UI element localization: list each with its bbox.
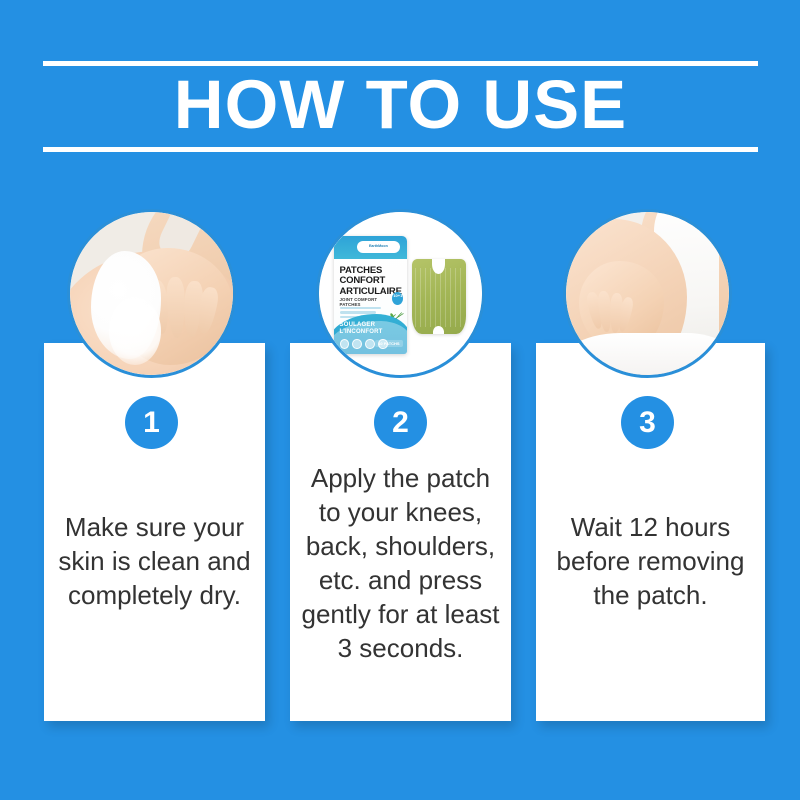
step-2-text: Apply the patch to your knees, back, sho… <box>300 461 501 665</box>
photo-1-finger <box>166 277 186 339</box>
page-title: HOW TO USE <box>43 69 758 141</box>
package-bottom-line-2: L'INCONFORT <box>340 329 388 336</box>
package-bottom-line-1: SOULAGER <box>340 322 388 329</box>
step-number-badge-1: 1 <box>125 396 178 449</box>
product-package-photo: EarthMoon PATCHES CONFORT ARTICULAIRE JO… <box>316 209 485 378</box>
photo-2-inner: EarthMoon PATCHES CONFORT ARTICULAIRE JO… <box>319 212 482 375</box>
step-3-text: Wait 12 hours before removing the patch. <box>546 510 755 612</box>
step-1-text: Make sure your skin is clean and complet… <box>54 510 255 612</box>
green-patch <box>412 259 466 334</box>
title-rule-bottom <box>43 147 758 152</box>
patch-texture <box>415 268 462 327</box>
feature-icon <box>365 339 375 350</box>
package-bottom-text: SOULAGER L'INCONFORT <box>340 322 388 336</box>
package-count-label: 10 PATCHS <box>375 340 402 347</box>
brand-logo-label: EarthMoon <box>357 242 400 253</box>
photo-1-foam-secondary <box>109 297 161 365</box>
header: HOW TO USE <box>43 55 758 155</box>
washing-skin-photo <box>67 209 236 378</box>
arm-elbow-photo <box>563 209 732 378</box>
photo-3-inner <box>566 212 729 375</box>
step-number-badge-3: 3 <box>621 396 674 449</box>
feature-icon <box>352 339 362 350</box>
step-number-badge-2: 2 <box>374 396 427 449</box>
photo-1-inner <box>70 212 233 375</box>
feature-icon <box>340 339 350 350</box>
product-package: EarthMoon PATCHES CONFORT ARTICULAIRE JO… <box>334 236 407 353</box>
photo-3-foreground-sheet <box>566 333 729 375</box>
